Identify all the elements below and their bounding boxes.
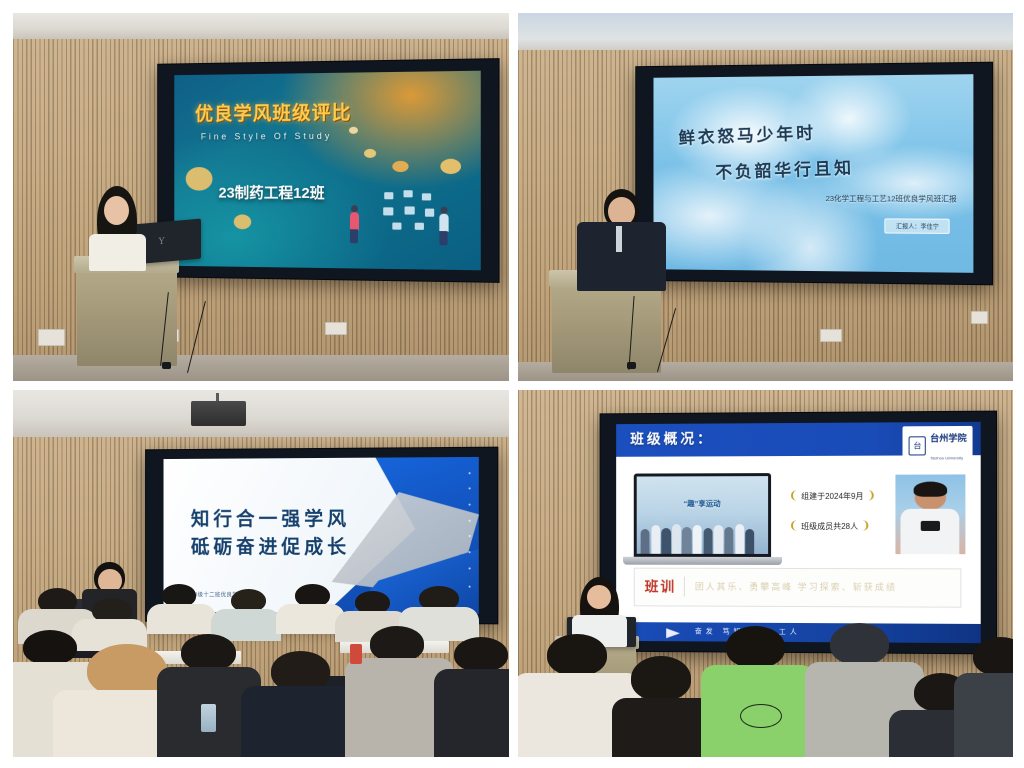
- university-name-en: Taizhou University: [930, 455, 963, 460]
- slide4-badge-members: ❨ 班级成员共28人 ❩: [789, 521, 871, 532]
- presenter-male: [577, 189, 666, 285]
- slide1-subtitle-en: Fine Style Of Study: [201, 131, 333, 142]
- ceiling: [518, 13, 1014, 50]
- audience-head: [454, 637, 509, 672]
- slide4-group-photo: “趣”享运动: [637, 476, 768, 553]
- audience-head: [631, 656, 690, 701]
- audience: [518, 617, 1014, 757]
- slide2-line2: 不负韶华行且知: [716, 154, 855, 184]
- slide2-line1: 鲜衣怒马少年时: [678, 119, 816, 149]
- slide3-line2: 砥砺奋进促成长: [191, 533, 350, 560]
- slide4-badge-founded: ❨ 组建于2024年9月 ❩: [789, 490, 876, 501]
- slide4-motto-box: 班训 团人其乐、勇攀高峰 学习探索、斩获成绩: [634, 567, 962, 607]
- slide1-class-label: 23制药工程12班: [218, 182, 324, 203]
- presenter-female: [87, 186, 146, 267]
- slide4-badge-members-text: 班级成员共28人: [801, 521, 858, 532]
- photo-collage: 优良学风班级评比 Fine Style Of Study 23制药工程12班: [0, 0, 1024, 768]
- cable-connector: [162, 362, 171, 369]
- slide-title-style-of-study: 优良学风班级评比 Fine Style Of Study 23制药工程12班: [174, 70, 480, 270]
- ceiling: [13, 13, 509, 39]
- laurel-right-icon: ❩: [861, 521, 870, 532]
- cable-connector: [627, 362, 636, 369]
- laurel-left-icon: ❨: [789, 490, 798, 501]
- slide4-header-title: 班级概况：: [630, 428, 714, 448]
- university-logo: 台 台州学院 Taizhou University: [903, 425, 973, 466]
- slide3-line1: 知行合一强学风: [191, 504, 350, 531]
- audience-head-cap: [830, 623, 889, 665]
- slide4-laptop-base: [623, 556, 781, 565]
- audience-head: [726, 626, 785, 668]
- slide4-motto-label: 班训: [635, 576, 685, 596]
- slide1-illustration: [342, 170, 467, 262]
- wall-plate: [325, 322, 347, 335]
- laurel-right-icon: ❩: [866, 490, 875, 501]
- panel-bottom-left: 知行合一强学风 砥砺奋进促成长 24级十二班优良学风班汇报: [13, 390, 509, 758]
- screen-surface: 鲜衣怒马少年时 不负韶华行且知 23化学工程与工艺12班优良学风班汇报 汇报人：…: [654, 74, 974, 273]
- slide4-group-crowd: [637, 513, 768, 553]
- audience-head: [181, 634, 236, 671]
- slide1-title: 优良学风班级评比: [195, 98, 352, 126]
- panel-bottom-right: 班级概况： 台 台州学院 Taizhou University “趣”享运动: [518, 390, 1014, 758]
- audience-head: [547, 634, 606, 676]
- projection-screen: 鲜衣怒马少年时 不负韶华行且知 23化学工程与工艺12班优良学风班汇报 汇报人：…: [636, 62, 994, 285]
- panel-top-right: 鲜衣怒马少年时 不负韶华行且知 23化学工程与工艺12班优良学风班汇报 汇报人：…: [518, 13, 1014, 381]
- audience-shoulders: [147, 604, 216, 634]
- slide2-presenter-label: 汇报人：李佳宁: [885, 219, 950, 235]
- water-bottle: [201, 704, 216, 732]
- screen-surface: 优良学风班级评比 Fine Style Of Study 23制药工程12班: [174, 70, 480, 270]
- laurel-left-icon: ❨: [789, 521, 798, 532]
- laptop-logo-icon: Y: [159, 237, 165, 248]
- projection-screen: 优良学风班级评比 Fine Style Of Study 23制药工程12班: [157, 58, 499, 283]
- wall-plate: [820, 329, 842, 342]
- university-crest-icon: 台: [909, 436, 926, 455]
- slide4-laptop-mockup: “趣”享运动: [634, 473, 771, 556]
- slide4-student-portrait: [895, 474, 965, 554]
- slide4-badge-founded-text: 组建于2024年9月: [801, 490, 863, 501]
- ceiling: [13, 390, 509, 438]
- panel-top-left: 优良学风班级评比 Fine Style Of Study 23制药工程12班: [13, 13, 509, 381]
- wall-plate: [971, 311, 988, 324]
- audience-shoulders: [954, 673, 1013, 757]
- audience-shoulders: [434, 669, 508, 757]
- audience-head: [370, 626, 425, 661]
- slide-sky-title: 鲜衣怒马少年时 不负韶华行且知 23化学工程与工艺12班优良学风班汇报 汇报人：…: [654, 74, 974, 273]
- university-name-cn: 台州学院: [930, 433, 967, 443]
- slide4-motto-text: 团人其乐、勇攀高峰 学习探索、斩获成绩: [685, 580, 897, 594]
- wall-plate: [38, 329, 65, 346]
- screen-surface: 班级概况： 台 台州学院 Taizhou University “趣”享运动: [616, 421, 980, 643]
- slide4-photo-caption: “趣”享运动: [683, 497, 720, 508]
- projector: [191, 401, 246, 427]
- slide2-subtitle: 23化学工程与工艺12班优良学风班汇报: [826, 193, 957, 204]
- audience-head: [23, 630, 78, 665]
- audience-shoulders: [241, 686, 360, 757]
- audience: [13, 581, 509, 757]
- audience-head: [973, 637, 1013, 676]
- slide-class-overview: 班级概况： 台 台州学院 Taizhou University “趣”享运动: [616, 421, 980, 643]
- drink-can: [350, 644, 362, 663]
